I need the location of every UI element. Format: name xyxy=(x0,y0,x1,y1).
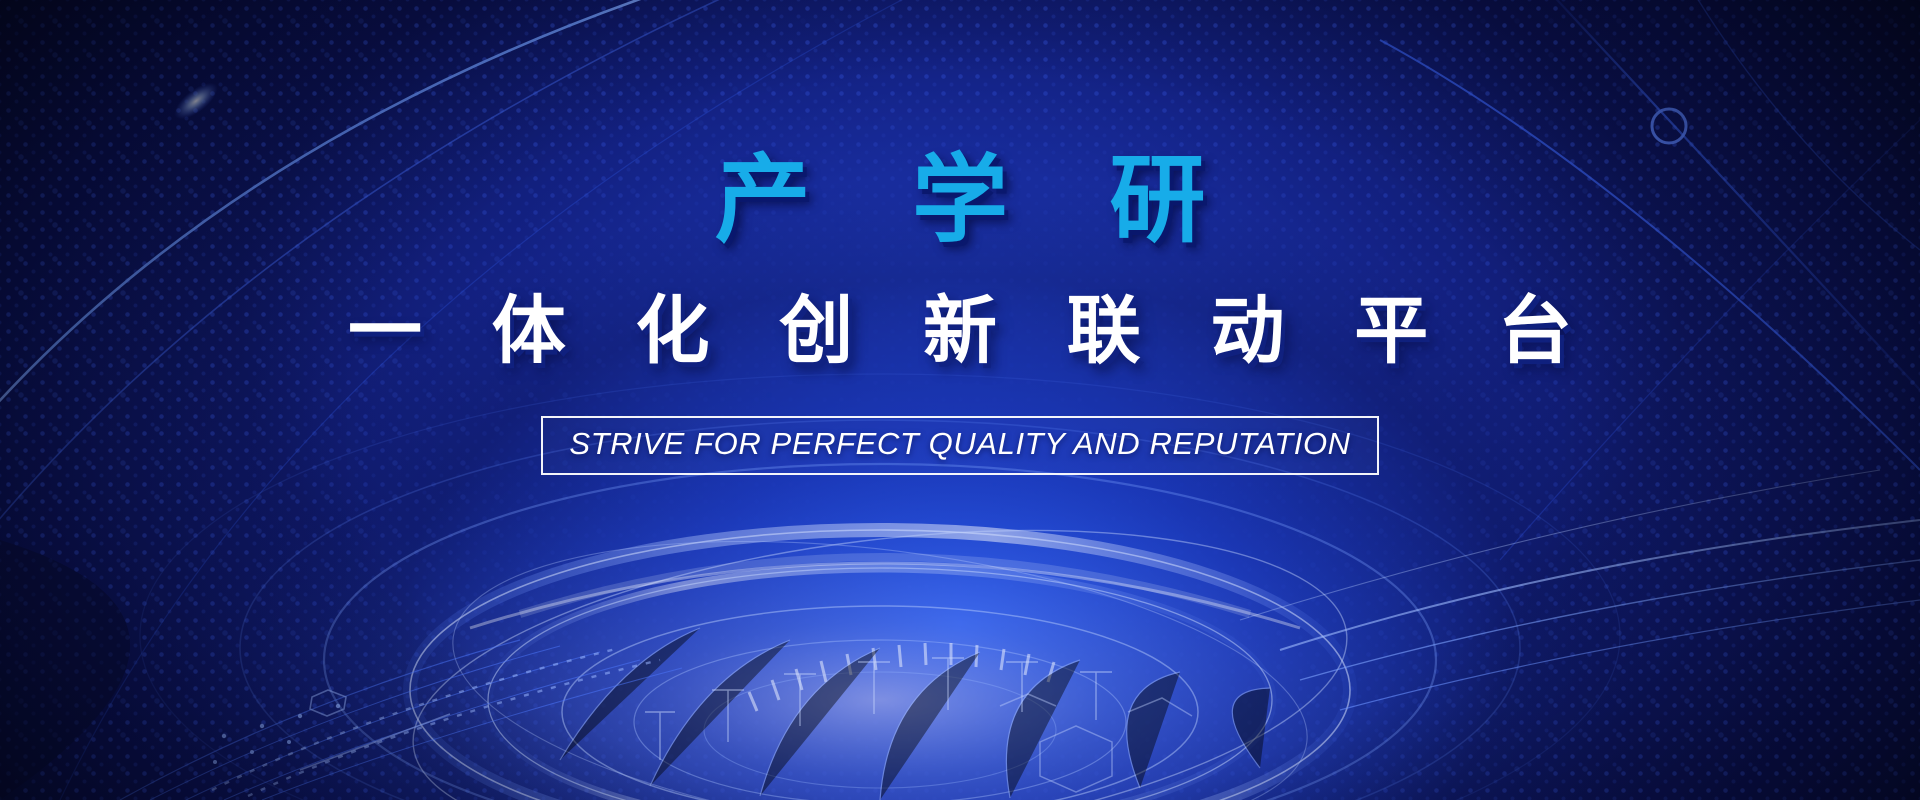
banner-tagline: STRIVE FOR PERFECT QUALITY AND REPUTATIO… xyxy=(569,428,1350,461)
hero-banner: 产 学 研 一 体 化 创 新 联 动 平 台 STRIVE FOR PERFE… xyxy=(0,0,1920,800)
tagline-box: STRIVE FOR PERFECT QUALITY AND REPUTATIO… xyxy=(541,416,1378,475)
banner-title-sub: 一 体 化 创 新 联 动 平 台 xyxy=(326,294,1594,368)
banner-content: 产 学 研 一 体 化 创 新 联 动 平 台 STRIVE FOR PERFE… xyxy=(0,0,1920,800)
banner-title-main: 产 学 研 xyxy=(681,152,1240,248)
